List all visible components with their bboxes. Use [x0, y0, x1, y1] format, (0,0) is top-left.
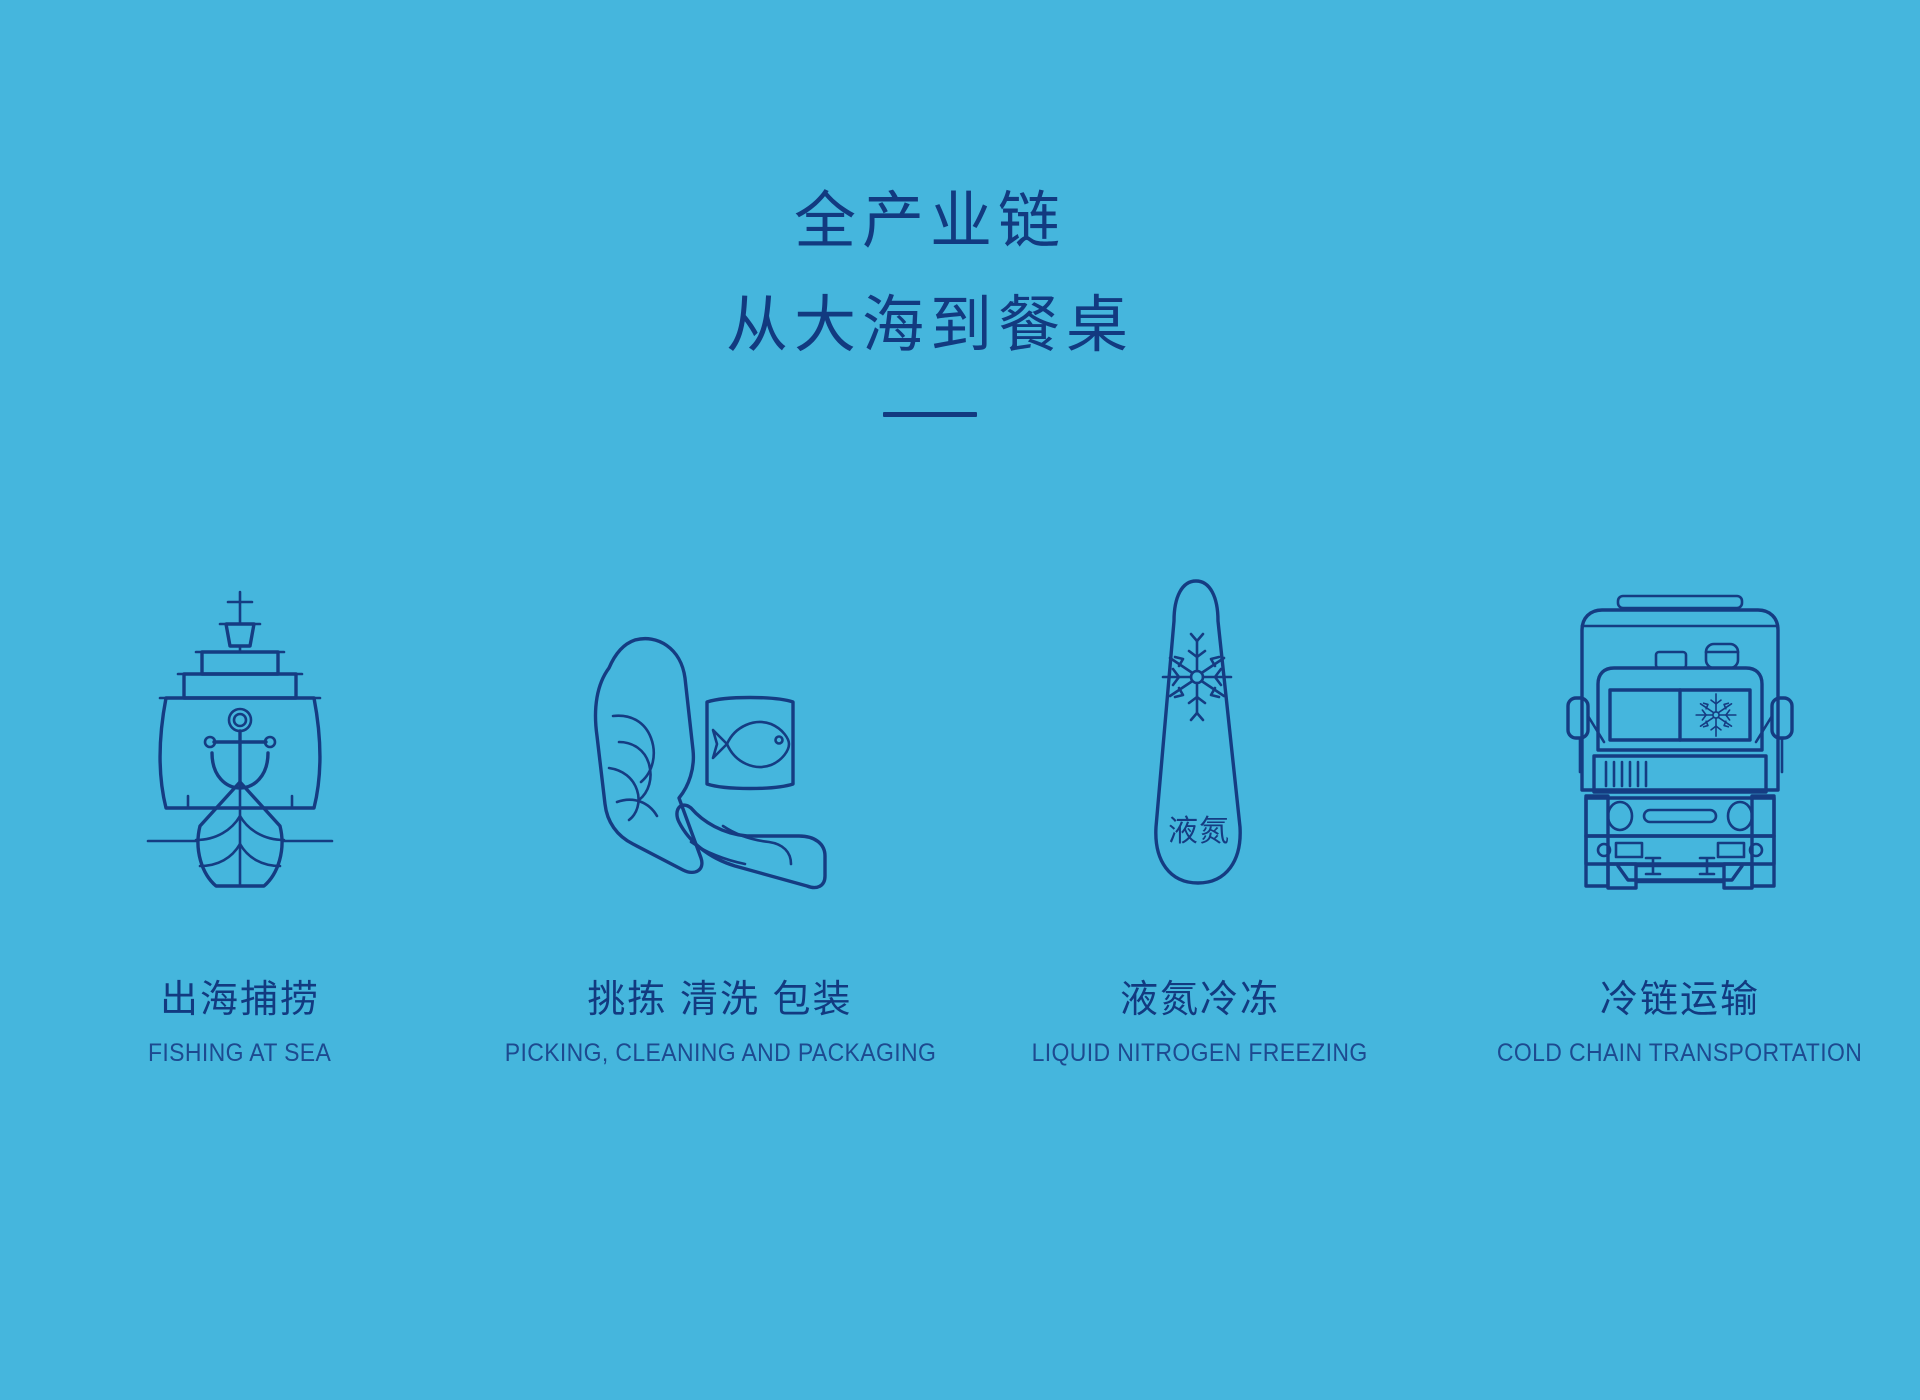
heading-line-2: 从大海到餐桌	[0, 274, 1860, 378]
refrigerated-truck-icon	[1560, 590, 1800, 890]
fishing-boat-icon	[140, 590, 340, 890]
step-caption: 液氮冷冻 LIQUID NITROGEN FREEZING	[1017, 978, 1382, 1068]
hands-fish-package-icon-box	[575, 520, 865, 890]
heading-divider	[883, 412, 977, 417]
tank-label: 液氮	[1168, 815, 1230, 848]
snowflake-icon	[1696, 694, 1736, 736]
step-fishing-at-sea[interactable]: 出海捕捞 FISHING AT SEA	[0, 520, 480, 1068]
liquid-nitrogen-tank-icon: 液氮	[1140, 575, 1260, 890]
step-title-en: LIQUID NITROGEN FREEZING	[1032, 1038, 1368, 1068]
step-title-cn: 液氮冷冻	[1017, 978, 1382, 1022]
liquid-nitrogen-tank-icon-box: 液氮	[1140, 520, 1260, 890]
step-cold-chain-transportation[interactable]: 冷链运输 COLD CHAIN TRANSPORTATION	[1440, 520, 1920, 1068]
heading-divider-wrap	[0, 412, 1860, 417]
hands-fish-package-icon	[575, 590, 865, 890]
step-title-en: COLD CHAIN TRANSPORTATION	[1497, 1038, 1862, 1068]
infographic-stage: 全产业链 从大海到餐桌	[0, 0, 1920, 1400]
heading-line-1: 全产业链	[0, 170, 1860, 274]
heading-block: 全产业链 从大海到餐桌	[0, 170, 1860, 417]
step-liquid-nitrogen-freezing[interactable]: 液氮 液氮冷冻 LIQUID NITROGEN FREEZING	[960, 520, 1440, 1068]
process-steps: 出海捕捞 FISHING AT SEA	[0, 520, 1920, 1068]
step-title-cn: 冷链运输	[1481, 978, 1878, 1022]
step-caption: 冷链运输 COLD CHAIN TRANSPORTATION	[1481, 978, 1878, 1068]
refrigerated-truck-icon-box	[1560, 520, 1800, 890]
step-picking-cleaning-packaging[interactable]: 挑拣 清洗 包装 PICKING, CLEANING AND PACKAGING	[480, 520, 960, 1068]
step-title-cn: 挑拣 清洗 包装	[486, 978, 955, 1022]
step-title-cn: 出海捕捞	[140, 978, 339, 1022]
step-title-en: PICKING, CLEANING AND PACKAGING	[504, 1038, 935, 1068]
step-caption: 挑拣 清洗 包装 PICKING, CLEANING AND PACKAGING	[486, 978, 955, 1068]
step-caption: 出海捕捞 FISHING AT SEA	[140, 978, 339, 1068]
fishing-boat-icon-box	[140, 520, 340, 890]
step-title-en: FISHING AT SEA	[148, 1038, 331, 1068]
